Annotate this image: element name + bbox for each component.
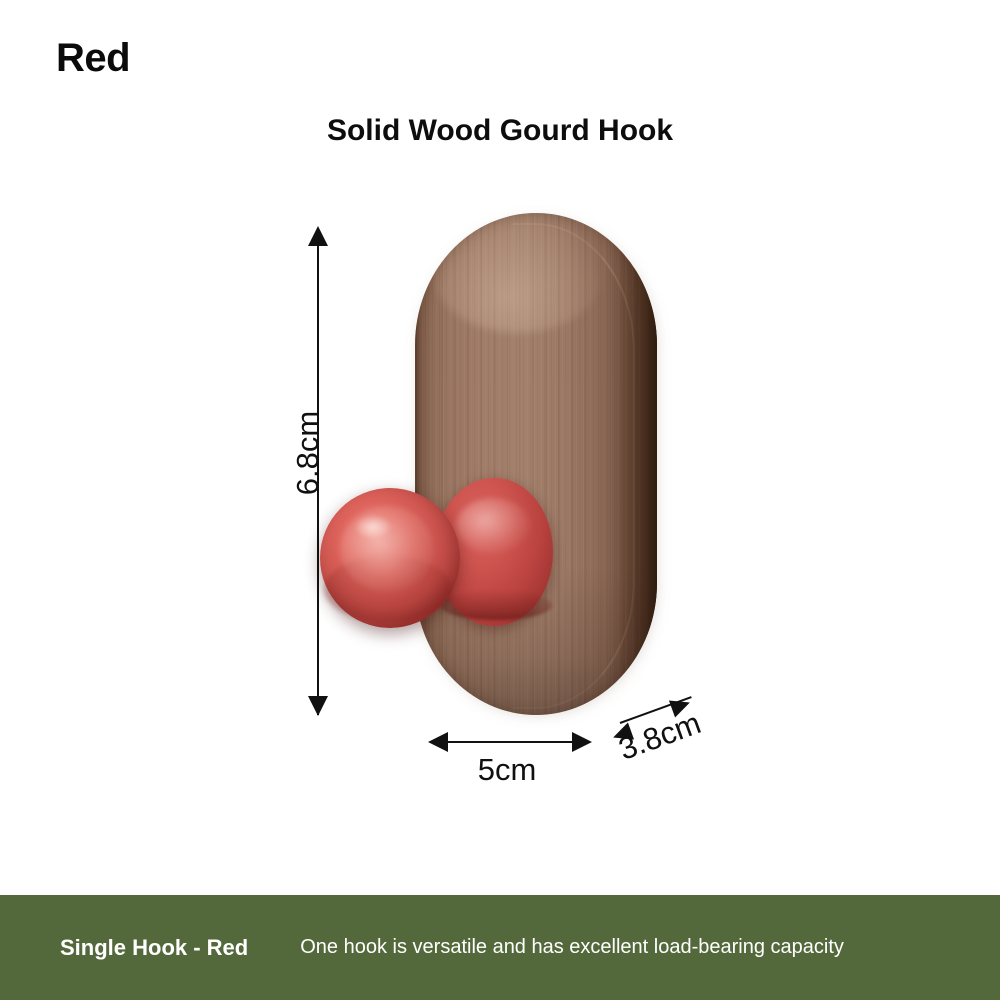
depth-dimension-label: 3.8cm xyxy=(614,705,706,768)
banner-description: One hook is versatile and has excellent … xyxy=(300,936,844,959)
height-arrow-up-icon xyxy=(308,226,328,246)
height-arrow-down-icon xyxy=(308,696,328,716)
width-arrow-left-icon xyxy=(428,732,448,752)
knob-head-specular-highlight xyxy=(356,516,390,538)
knob-base-rim-shadow xyxy=(440,590,552,620)
height-dimension-label: 6.8cm xyxy=(290,393,326,513)
wood-plate-face xyxy=(415,213,657,715)
width-dimension-label: 5cm xyxy=(432,752,582,788)
knob-base-highlight xyxy=(456,498,530,554)
banner-variant-title: Single Hook - Red xyxy=(60,935,248,961)
width-dimension-line xyxy=(434,741,576,743)
product-image-page: Red Solid Wood Gourd Hook xyxy=(0,0,1000,1000)
red-gourd-knob xyxy=(318,470,568,635)
depth-dimension-group: 3.8cm xyxy=(606,698,736,788)
wood-plate xyxy=(415,213,657,715)
bottom-caption-banner: Single Hook - Red One hook is versatile … xyxy=(0,895,1000,1000)
knob-head-gloss xyxy=(340,506,434,592)
product-illustration: 6.8cm 5cm 3.8cm xyxy=(0,0,1000,895)
width-arrow-right-icon xyxy=(572,732,592,752)
